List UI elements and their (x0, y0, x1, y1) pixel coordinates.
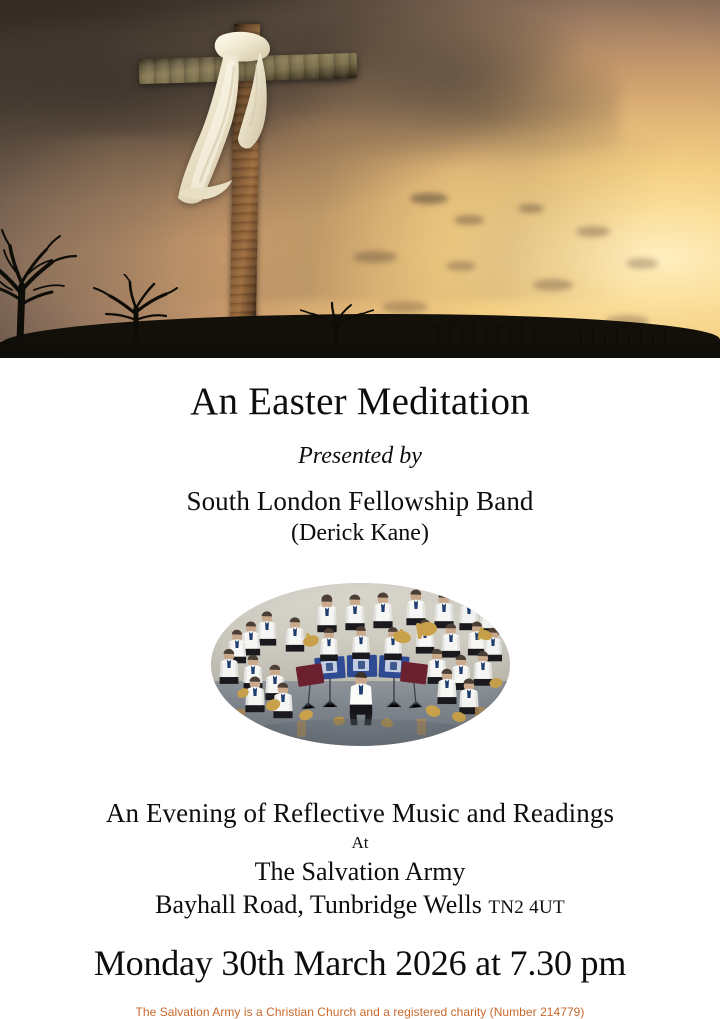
poster-text-lower: An Evening of Reflective Music and Readi… (0, 798, 720, 1019)
band-photo-oval (211, 583, 510, 746)
easter-meditation-poster: An Easter Meditation Presented by South … (0, 0, 720, 1019)
event-date-time: Monday 30th March 2026 at 7.30 pm (0, 943, 720, 983)
bare-tree-silhouette-icon (430, 312, 540, 346)
poster-text-upper: An Easter Meditation Presented by South … (0, 382, 720, 548)
venue-postcode: TN2 4UT (488, 897, 565, 918)
cloud-puff-icon (576, 226, 610, 237)
white-cloth-drape (168, 30, 318, 230)
presented-by-label: Presented by (0, 443, 720, 469)
bare-tree-silhouette-icon (575, 318, 671, 346)
venue-address: Bayhall Road, Tunbridge Wells TN2 4UT (0, 889, 720, 920)
bare-tree-silhouette-icon (300, 300, 374, 344)
cloud-puff-icon (454, 215, 484, 225)
hero-cross-sunset-photo (0, 0, 720, 358)
band-leader-name: (Derick Kane) (0, 519, 720, 548)
band-name: South London Fellowship Band (0, 486, 720, 518)
venue-street: Bayhall Road, Tunbridge Wells (155, 890, 482, 919)
page-title: An Easter Meditation (0, 382, 720, 423)
band-photo-vignette (211, 583, 510, 746)
cloud-puff-icon (626, 258, 658, 269)
event-description: An Evening of Reflective Music and Readi… (0, 798, 720, 829)
cloud-puff-icon (382, 301, 428, 313)
venue-name: The Salvation Army (0, 856, 720, 887)
at-label: At (0, 832, 720, 853)
charity-registration-note: The Salvation Army is a Christian Church… (0, 1005, 720, 1019)
bare-tree-silhouette-icon (0, 228, 102, 340)
band-photo-image (211, 583, 510, 746)
bare-tree-silhouette-icon (92, 274, 178, 342)
cloud-puff-icon (353, 251, 397, 263)
